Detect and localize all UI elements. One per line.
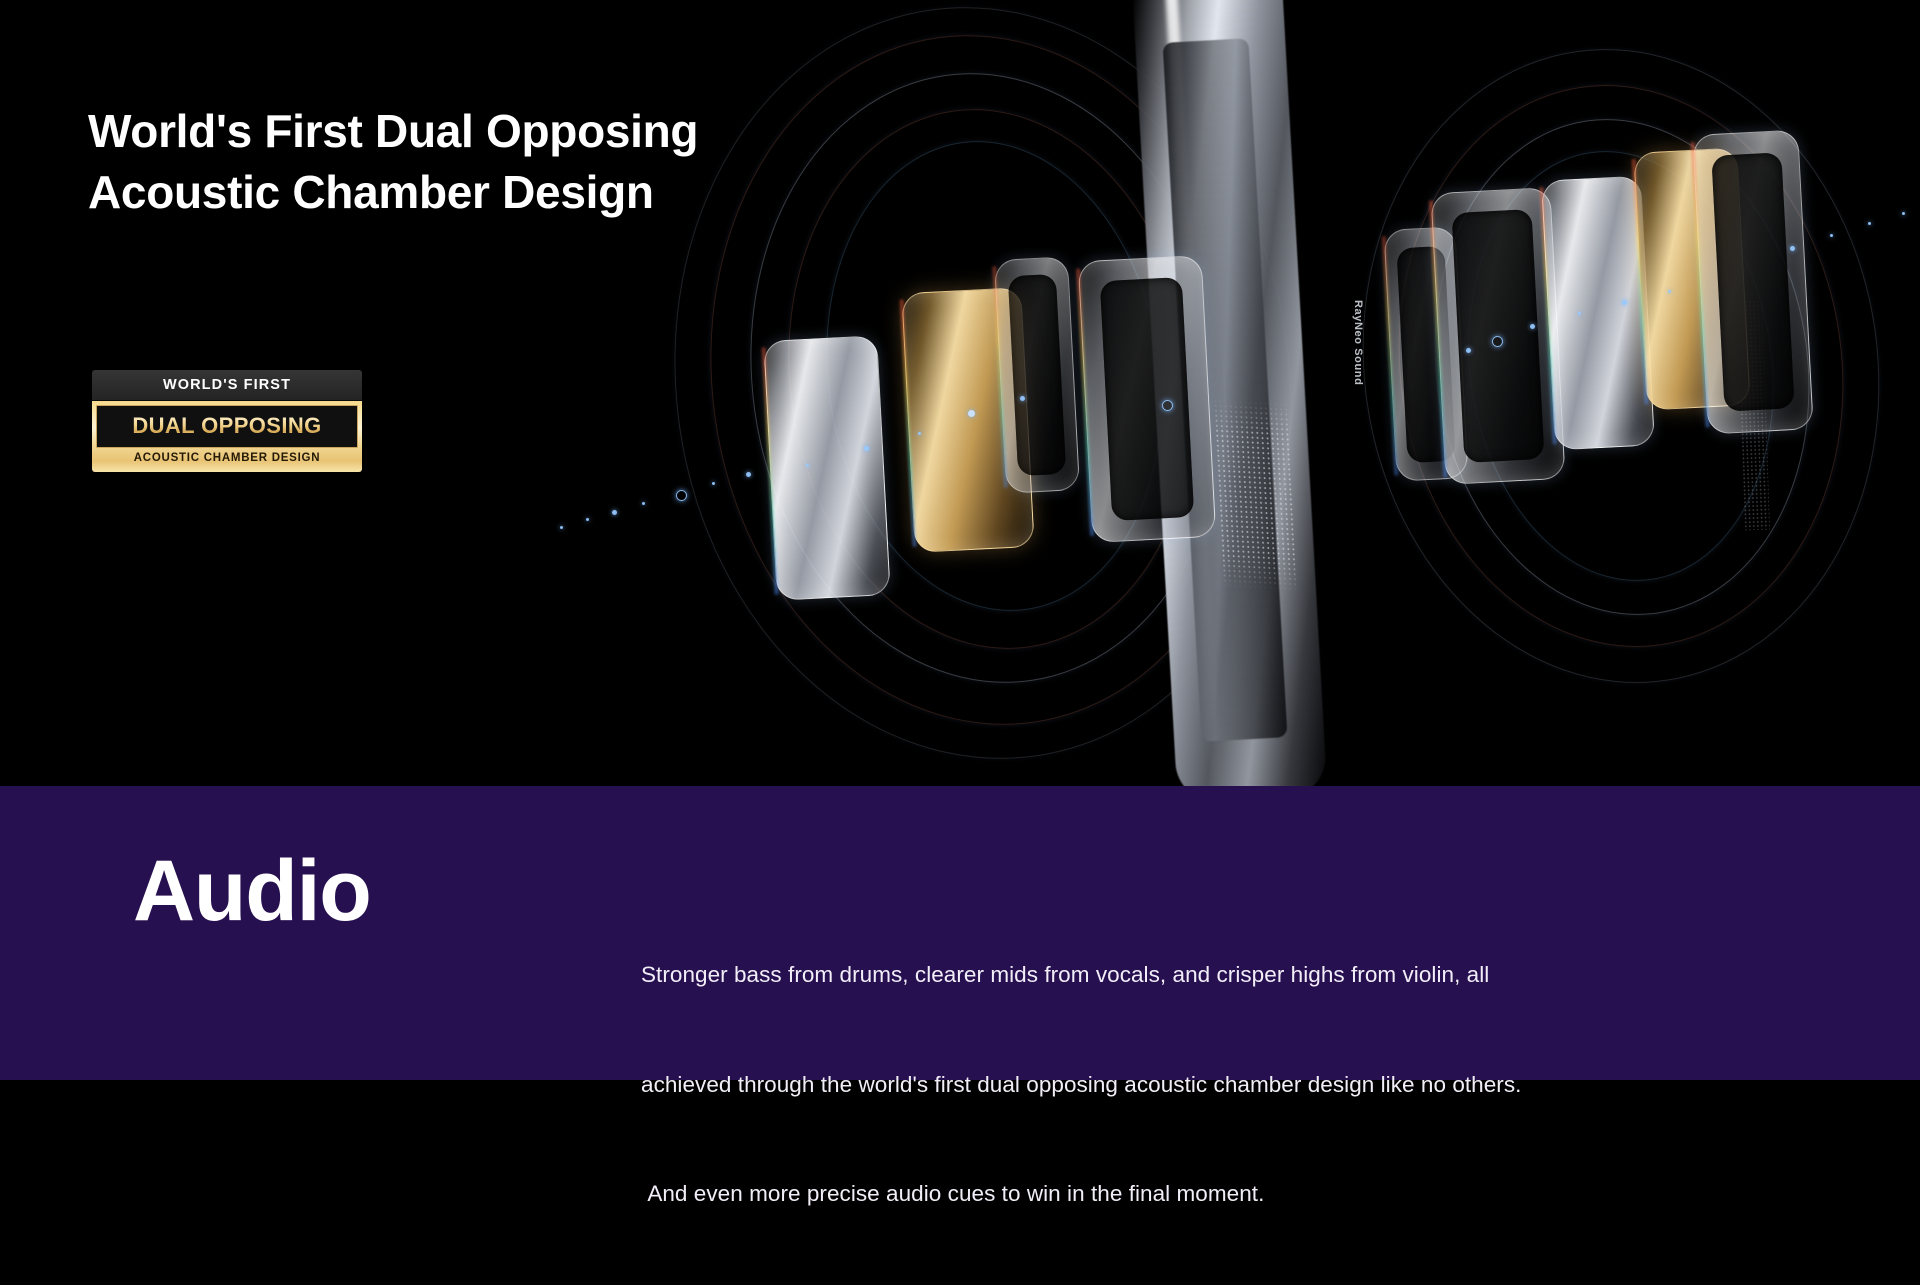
axis-dot bbox=[1902, 212, 1905, 215]
hero-section: RayNeo Sound bbox=[0, 0, 1920, 786]
axis-dot bbox=[1161, 399, 1173, 411]
badge-main-label: DUAL OPPOSING bbox=[132, 413, 321, 439]
axis-dot bbox=[1020, 396, 1025, 401]
headline-line-1: World's First Dual Opposing bbox=[88, 101, 908, 162]
band-description: Stronger bass from drums, clearer mids f… bbox=[641, 885, 1811, 1285]
badge-main-box: DUAL OPPOSING bbox=[96, 405, 358, 448]
axis-dot bbox=[1622, 300, 1627, 305]
axis-dot bbox=[746, 472, 751, 477]
axis-dot bbox=[1868, 222, 1871, 225]
band-title: Audio bbox=[133, 848, 371, 934]
axis-dot bbox=[1668, 290, 1671, 293]
axis-dot bbox=[968, 410, 975, 417]
hero-headline: World's First Dual Opposing Acoustic Cha… bbox=[88, 101, 908, 222]
axis-dot bbox=[712, 482, 715, 485]
axis-dot bbox=[642, 502, 645, 505]
audio-summary-band: Audio Stronger bass from drums, clearer … bbox=[0, 786, 1920, 1080]
worlds-first-badge: WORLD'S FIRST DUAL OPPOSING ACOUSTIC CHA… bbox=[92, 370, 362, 472]
axis-dot bbox=[806, 464, 809, 467]
axis-dot bbox=[560, 526, 563, 529]
band-description-line-3: And even more precise audio cues to win … bbox=[641, 1176, 1811, 1212]
axis-dot bbox=[918, 432, 921, 435]
axis-dot bbox=[1830, 234, 1833, 237]
badge-gold-frame: DUAL OPPOSING ACOUSTIC CHAMBER DESIGN bbox=[92, 401, 362, 472]
axis-dot bbox=[675, 489, 687, 501]
badge-sub-label: ACOUSTIC CHAMBER DESIGN bbox=[96, 448, 358, 467]
axis-dot bbox=[1578, 312, 1581, 315]
axis-dot bbox=[1790, 246, 1795, 251]
band-description-line-1: Stronger bass from drums, clearer mids f… bbox=[641, 957, 1811, 993]
axis-dot bbox=[586, 518, 589, 521]
axis-dot bbox=[1466, 348, 1471, 353]
axis-dot bbox=[1491, 335, 1503, 347]
axis-dot bbox=[612, 510, 617, 515]
headline-line-2: Acoustic Chamber Design bbox=[88, 162, 908, 223]
axis-dot bbox=[864, 446, 869, 451]
audio-feature-page: RayNeo Sound bbox=[0, 0, 1920, 1080]
band-description-line-2: achieved through the world's first dual … bbox=[641, 1067, 1811, 1103]
axis-dot bbox=[1530, 324, 1535, 329]
badge-top-label: WORLD'S FIRST bbox=[92, 370, 362, 401]
